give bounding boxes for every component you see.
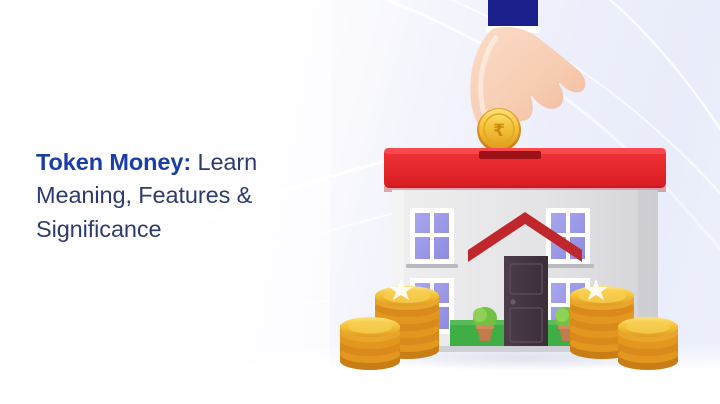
coin-rupee-symbol: ₹ [493, 121, 505, 141]
page-title: Token Money: Learn Meaning, Features & S… [36, 146, 326, 246]
house-piggy-bank-illustration: ₹ [330, 0, 720, 404]
page-title-bold: Token Money: [36, 149, 191, 175]
coin-stack-right-short [618, 317, 678, 370]
sleeve [488, 0, 538, 28]
rupee-coin: ₹ [477, 108, 521, 152]
coin-stack-left-short [340, 317, 400, 370]
door-knob [510, 299, 515, 304]
window-upper-left [406, 208, 458, 268]
banner-root: Token Money: Learn Meaning, Features & S… [0, 0, 720, 404]
coin-slot [479, 151, 541, 159]
hero-illustration: ₹ [330, 0, 720, 404]
